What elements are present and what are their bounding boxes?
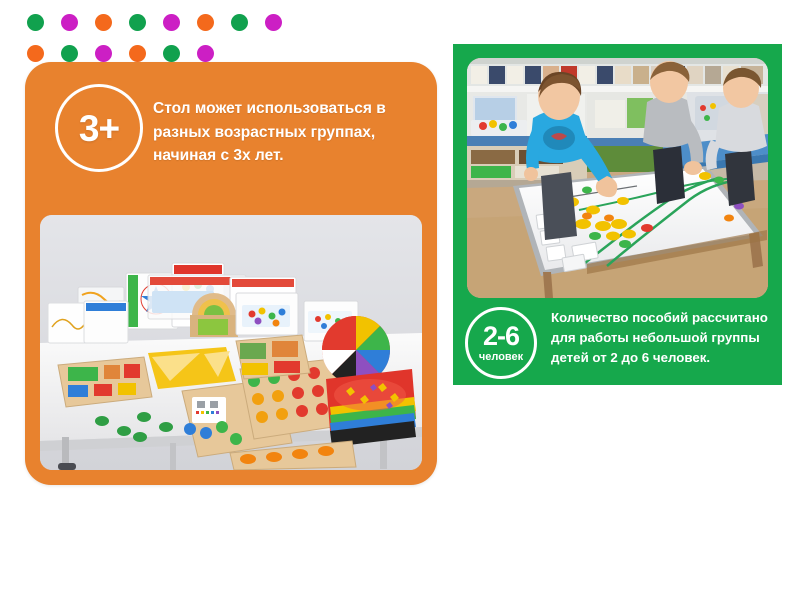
photo-learning-materials [40, 215, 422, 470]
photo-children-light-table-art [467, 58, 768, 298]
decorative-dot [231, 14, 248, 31]
badge-group-main-label: 2-6 [483, 323, 519, 350]
decorative-dot [265, 14, 282, 31]
card-age-range[interactable]: 3+ Стол может использоваться в разных во… [25, 62, 437, 485]
decorative-dot [129, 14, 146, 31]
card-group-description: Количество пособий рассчитано для работы… [551, 308, 777, 368]
decorative-dot [197, 45, 214, 62]
decorative-dot [27, 45, 44, 62]
slide-canvas: 3+ Стол может использоваться в разных во… [0, 0, 800, 600]
card-group-size[interactable]: 2-6 человек Количество пособий рассчитан… [453, 44, 782, 385]
badge-group-size: 2-6 человек [465, 307, 537, 379]
decorative-dot [27, 14, 44, 31]
decorative-dot [61, 14, 78, 31]
photo-children-light-table [467, 58, 768, 298]
badge-age-main-label: 3+ [79, 110, 119, 147]
decorative-dot [197, 14, 214, 31]
decorative-dot [163, 14, 180, 31]
card-age-description: Стол может использоваться в разных возра… [153, 97, 418, 168]
photo-learning-materials-art [40, 215, 422, 470]
badge-age-3plus: 3+ [55, 84, 143, 172]
decorative-dot [61, 45, 78, 62]
decorative-dot [95, 14, 112, 31]
badge-group-sub-label: человек [479, 352, 523, 363]
decorative-dot [95, 45, 112, 62]
decorative-dot [129, 45, 146, 62]
decorative-dot [163, 45, 180, 62]
